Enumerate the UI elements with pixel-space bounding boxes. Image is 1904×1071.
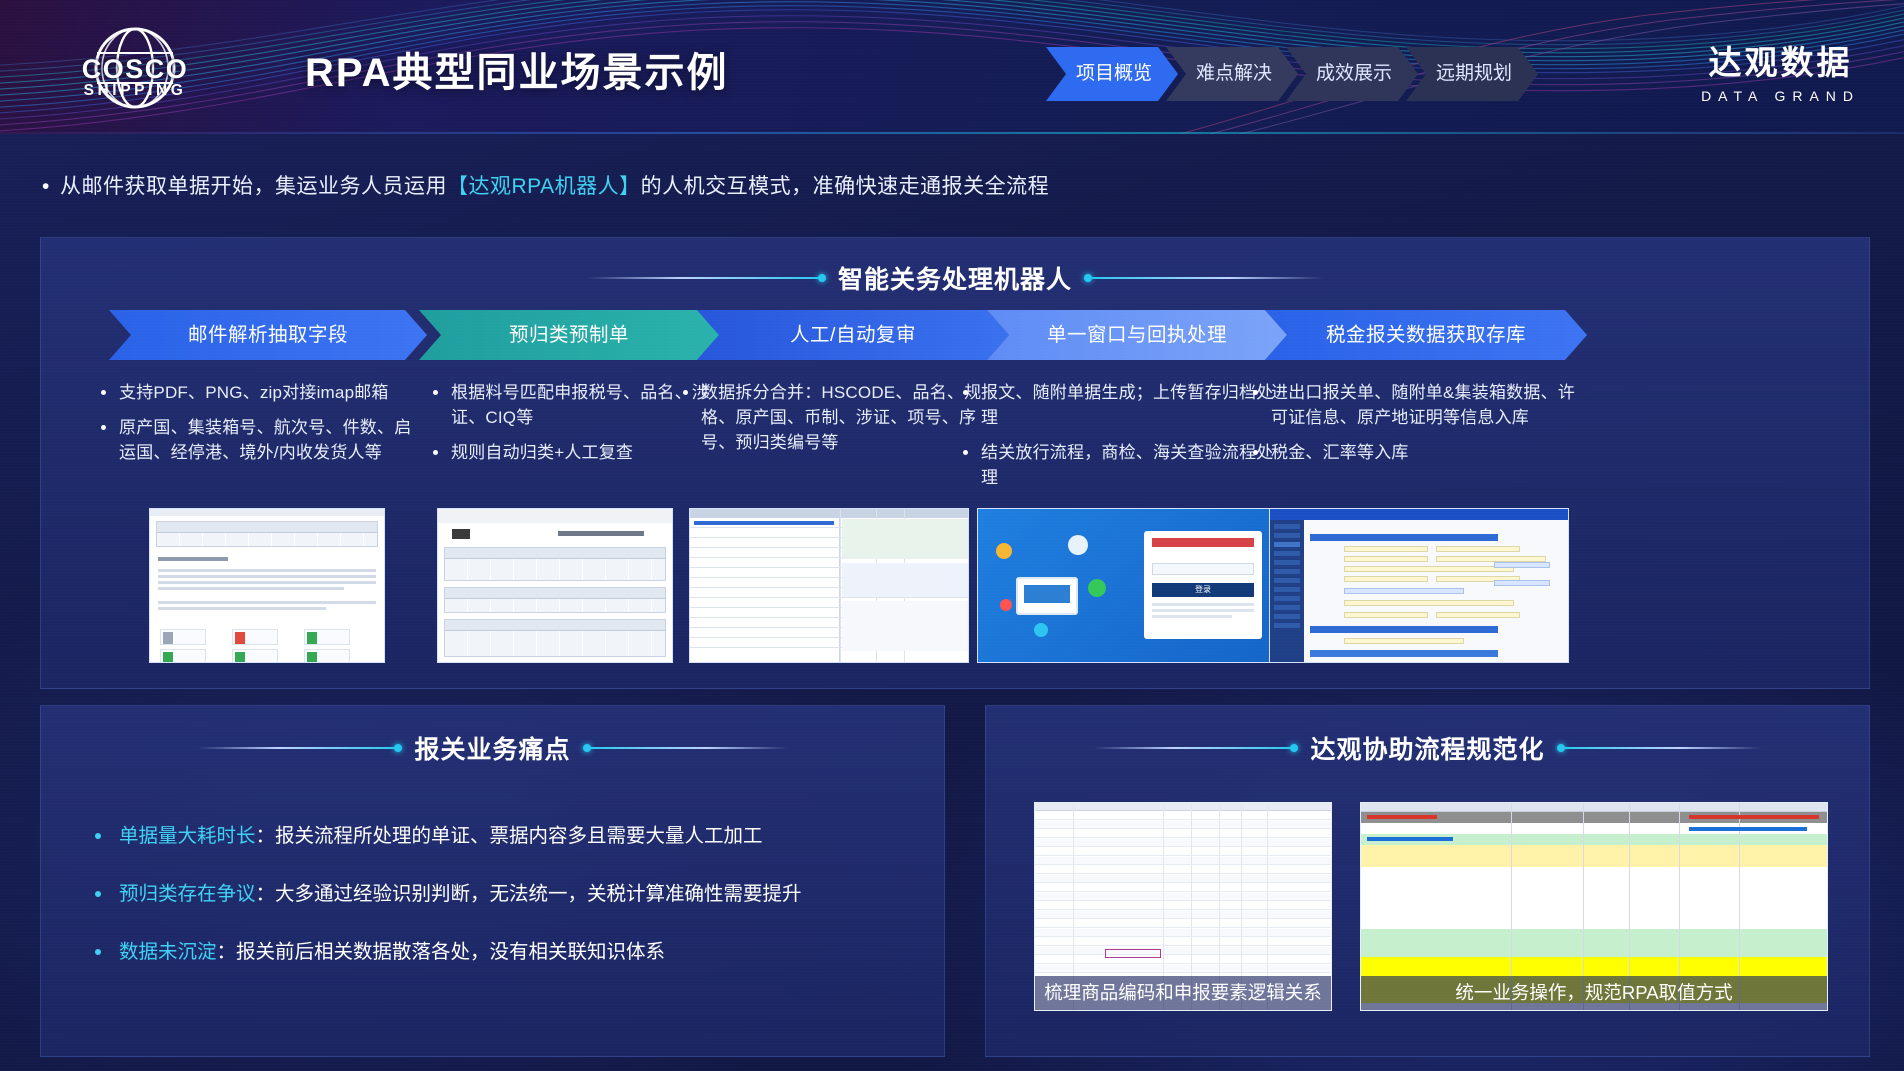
heading-line-right-icon (1088, 277, 1323, 279)
step-column-5: 进出口报关单、随附单&集装箱数据、许可证信息、原产地证明等信息入库 税金、汇率等… (1249, 380, 1579, 475)
pain-point-key: 数据未沉淀 (119, 941, 217, 963)
portal-preview: 登录 (978, 509, 1276, 662)
list-item: 报文、随附单据生成；上传暂存归档处理 (959, 380, 1279, 430)
step-column-2: 根据料号匹配申报税号、品名、涉证、CIQ等 规则自动归类+人工复查 (429, 380, 719, 475)
tab-project-overview[interactable]: 项目概览 (1046, 47, 1178, 101)
subtitle-text-after: 的人机交互模式，准确快速走通报关全流程 (641, 175, 1050, 198)
cosco-wordmark: COSCO (55, 54, 215, 85)
email-invoice-document-screenshot[interactable] (149, 508, 385, 663)
step-column-4: 报文、随附单据生成；上传暂存归档处理 结关放行流程，商检、海关查验流程处理 (959, 380, 1279, 500)
single-window-portal-login-screenshot[interactable]: 登录 (977, 508, 1277, 663)
robot-process-panel: 智能关务处理机器人 邮件解析抽取字段 预归类预制单 人工/自动复审 单一窗口与回… (40, 237, 1870, 689)
step-chevron-email-parsing[interactable]: 邮件解析抽取字段 (109, 310, 427, 360)
header-bar: COSCO SHIPPING RPA典型同业场景示例 项目概览 难点解决 成效展… (0, 0, 1904, 134)
process-normalization-panel: 达观协助流程规范化 (985, 705, 1870, 1057)
pain-points-list: 单据量大耗时长：报关流程所处理的单证、票据内容多且需要大量人工加工 预归类存在争… (89, 822, 914, 996)
tab-results-display[interactable]: 成效展示 (1286, 47, 1418, 101)
portal-illustration-icon (996, 535, 1104, 639)
normalization-title: 达观协助流程规范化 (1310, 730, 1544, 766)
main-panel-title: 智能关务处理机器人 (838, 260, 1072, 296)
pre-classification-form-screenshot[interactable] (437, 508, 673, 663)
step-chevron-tax-data-store[interactable]: 税金报关数据获取存库 (1265, 310, 1587, 360)
subtitle-text-before: 从邮件获取单据开始，集运业务人员运用 (60, 175, 447, 198)
shot-caption: 梳理商品编码和申报要素逻辑关系 (1035, 976, 1331, 1010)
brand-name-en: DATA GRAND (1701, 88, 1860, 104)
heading-line-left-icon (1094, 747, 1294, 749)
declaration-form-preview (1270, 509, 1568, 662)
list-item: 单据量大耗时长：报关流程所处理的单证、票据内容多且需要大量人工加工 (89, 822, 914, 850)
subtitle-highlight: 【达观RPA机器人】 (447, 175, 641, 198)
document-preview (150, 509, 384, 662)
pain-point-text: ：大多通过经验识别判断，无法统一，关税计算准确性需要提升 (256, 883, 802, 905)
list-item: 规则自动归类+人工复查 (429, 440, 719, 465)
list-item: 原产国、集装箱号、航次号、件数、启运国、经停港、境外/内收发货人等 (97, 415, 427, 465)
normalization-heading: 达观协助流程规范化 (986, 730, 1869, 766)
commodity-code-sheet[interactable]: 梳理商品编码和申报要素逻辑关系 (1034, 802, 1332, 1011)
list-item: 预归类存在争议：大多通过经验识别判断，无法统一，关税计算准确性需要提升 (89, 880, 914, 908)
document-preview (438, 509, 672, 662)
heading-line-right-icon (1561, 747, 1761, 749)
customs-declaration-form-screenshot[interactable] (1269, 508, 1569, 663)
cosco-submark: SHIPPING (55, 82, 215, 100)
list-item: 税金、汇率等入库 (1249, 440, 1579, 465)
login-button[interactable]: 登录 (1152, 583, 1254, 597)
heading-line-left-icon (198, 747, 398, 749)
table-preview (690, 509, 968, 662)
review-data-table-screenshot[interactable] (689, 508, 969, 663)
step-chevron-pre-classification[interactable]: 预归类预制单 (419, 310, 719, 360)
step-column-1: 支持PDF、PNG、zip对接imap邮箱 原产国、集装箱号、航次号、件数、启运… (97, 380, 427, 475)
pain-point-text: ：报关流程所处理的单证、票据内容多且需要大量人工加工 (256, 825, 763, 847)
pain-points-panel: 报关业务痛点 单据量大耗时长：报关流程所处理的单证、票据内容多且需要大量人工加工… (40, 705, 945, 1057)
rpa-rules-sheet[interactable]: 统一业务操作，规范RPA取值方式 (1360, 802, 1828, 1011)
list-item: 支持PDF、PNG、zip对接imap邮箱 (97, 380, 427, 405)
heading-line-right-icon (587, 747, 787, 749)
slide-subtitle: •从邮件获取单据开始，集运业务人员运用【达观RPA机器人】的人机交互模式，准确快… (42, 170, 1049, 200)
main-panel-heading: 智能关务处理机器人 (41, 260, 1869, 296)
navigation-tabs: 项目概览 难点解决 成效展示 远期规划 (1046, 47, 1526, 101)
pain-points-heading: 报关业务痛点 (41, 730, 944, 766)
page-title: RPA典型同业场景示例 (305, 40, 728, 98)
pain-point-text: ：报关前后相关数据散落各处，没有相关联知识体系 (217, 941, 666, 963)
process-step-chevrons: 邮件解析抽取字段 预归类预制单 人工/自动复审 单一窗口与回执处理 税金报关数据… (67, 310, 1845, 360)
list-item: 根据料号匹配申报税号、品名、涉证、CIQ等 (429, 380, 719, 430)
subtitle-bullet-icon: • (42, 175, 60, 199)
list-item: 结关放行流程，商检、海关查验流程处理 (959, 440, 1279, 490)
list-item: 数据未沉淀：报关前后相关数据散落各处，没有相关联知识体系 (89, 938, 914, 966)
list-item: 进出口报关单、随附单&集装箱数据、许可证信息、原产地证明等信息入库 (1249, 380, 1579, 430)
cosco-shipping-logo: COSCO SHIPPING (55, 26, 215, 112)
heading-line-left-icon (587, 277, 822, 279)
tab-long-term-planning[interactable]: 远期规划 (1406, 47, 1538, 101)
shot-caption: 统一业务操作，规范RPA取值方式 (1361, 976, 1827, 1010)
header-wave-decoration (0, 0, 1904, 134)
normalization-screenshots: 梳理商品编码和申报要素逻辑关系 (986, 802, 1869, 1032)
step-screenshot-thumbnails: 登录 (69, 508, 1849, 668)
pain-points-title: 报关业务痛点 (414, 730, 570, 766)
brand-name-cn: 达观数据 (1701, 36, 1860, 84)
step-chevron-manual-auto-review[interactable]: 人工/自动复审 (697, 310, 1009, 360)
pain-point-key: 单据量大耗时长 (119, 825, 256, 847)
pain-point-key: 预归类存在争议 (119, 883, 256, 905)
tab-difficulty-solving[interactable]: 难点解决 (1166, 47, 1298, 101)
header-accent-line (0, 132, 1904, 134)
slide-root: COSCO SHIPPING RPA典型同业场景示例 项目概览 难点解决 成效展… (0, 0, 1904, 1071)
login-card: 登录 (1144, 531, 1262, 639)
step-chevron-single-window[interactable]: 单一窗口与回执处理 (987, 310, 1287, 360)
datagrand-brand-logo: 达观数据 DATA GRAND (1701, 36, 1860, 104)
